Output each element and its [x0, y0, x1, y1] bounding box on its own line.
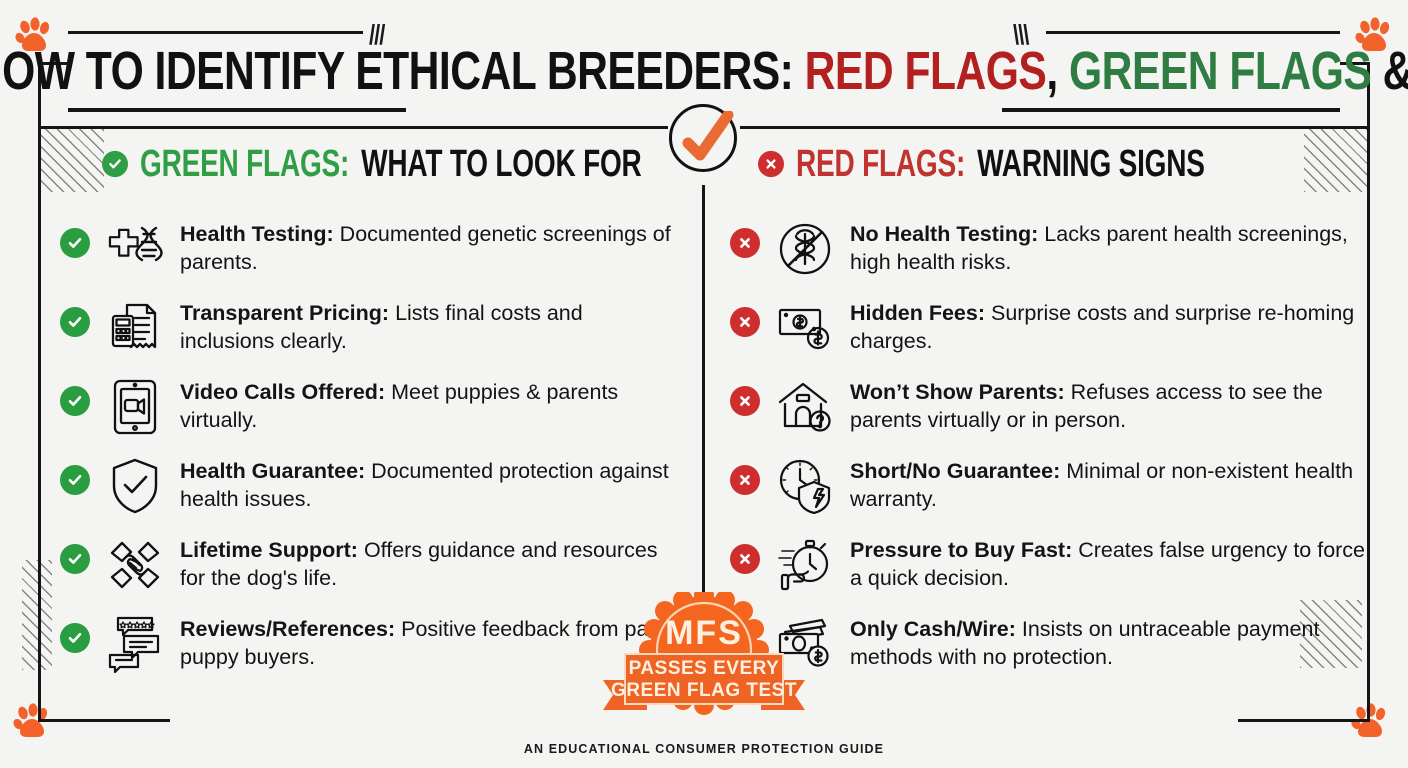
list-item-title: No Health Testing:	[850, 222, 1038, 246]
title-part-2: & QUESTIONS TO ASK	[1371, 40, 1408, 101]
helping-hands-icon	[104, 534, 166, 596]
list-item-title: Health Testing:	[180, 222, 334, 246]
seal-ribbon-line2: GREEN FLAG TEST	[611, 680, 797, 701]
list-item-text: Only Cash/Wire: Insists on untraceable p…	[850, 609, 1370, 671]
check-icon	[60, 307, 90, 337]
clock-broken-shield-icon	[774, 455, 836, 517]
title-comma: ,	[1046, 40, 1069, 101]
frame-border-left	[38, 62, 41, 722]
list-item-title: Hidden Fees:	[850, 301, 985, 325]
column-divider	[702, 185, 705, 617]
frame-border-bottom-right	[1238, 719, 1370, 722]
rule-below-title-right	[1002, 108, 1340, 112]
list-item: Health Guarantee: Documented protection …	[60, 451, 680, 517]
red-flags-heading-accent: RED FLAGS:	[796, 143, 965, 186]
x-icon	[730, 307, 760, 337]
house-question-icon	[774, 376, 836, 438]
list-item-text: Won’t Show Parents: Refuses access to se…	[850, 372, 1370, 434]
rule-below-title-left	[68, 108, 406, 112]
list-item: Hidden Fees: Surprise costs and surprise…	[730, 293, 1370, 359]
tablet-video-call-icon	[104, 376, 166, 438]
hidden-money-icon	[774, 297, 836, 359]
list-item-title: Video Calls Offered:	[180, 380, 385, 404]
green-flags-column: GREEN FLAGS: WHAT TO LOOK FOR	[60, 148, 680, 688]
x-icon	[730, 228, 760, 258]
green-flags-heading: GREEN FLAGS: WHAT TO LOOK FOR	[102, 143, 680, 186]
hatch-decoration-bottom-left	[22, 560, 52, 670]
check-icon	[60, 465, 90, 495]
green-flags-heading-accent: GREEN FLAGS:	[140, 143, 349, 186]
list-item-title: Pressure to Buy Fast:	[850, 538, 1072, 562]
list-item: Lifetime Support: Offers guidance and re…	[60, 530, 680, 596]
list-item-title: Won’t Show Parents:	[850, 380, 1065, 404]
list-item: Video Calls Offered: Meet puppies & pare…	[60, 372, 680, 438]
list-item: Won’t Show Parents: Refuses access to se…	[730, 372, 1370, 438]
list-item-text: Pressure to Buy Fast: Creates false urge…	[850, 530, 1370, 592]
list-item: Reviews/References: Positive feedback fr…	[60, 609, 680, 675]
red-flags-heading: RED FLAGS: WARNING SIGNS	[758, 143, 1370, 186]
check-icon	[60, 228, 90, 258]
list-item-text: Health Guarantee: Documented protection …	[180, 451, 680, 513]
mfs-seal-badge: MFS PASSES EVERY GREEN FLAG TEST	[601, 592, 807, 724]
title-part-1: HOW TO IDENTIFY ETHICAL BREEDERS:	[0, 40, 805, 101]
list-item-text: No Health Testing: Lacks parent health s…	[850, 214, 1370, 276]
header-divider-right	[740, 126, 1370, 129]
stopwatch-hand-icon	[774, 534, 836, 596]
title-red-flags: RED FLAGS	[805, 40, 1047, 101]
paw-print-icon	[10, 700, 54, 744]
calculator-receipt-icon	[104, 297, 166, 359]
check-icon	[60, 544, 90, 574]
list-item-title: Transparent Pricing:	[180, 301, 389, 325]
seal-brand: MFS	[665, 614, 743, 652]
list-item-title: Health Guarantee:	[180, 459, 365, 483]
header-divider-left	[38, 126, 668, 129]
seal-ribbon-line1: PASSES EVERY	[629, 658, 780, 679]
page-title: HOW TO IDENTIFY ETHICAL BREEDERS: RED FL…	[0, 44, 1408, 98]
paw-print-icon	[1348, 700, 1392, 744]
check-icon	[60, 623, 90, 653]
health-cross-dna-icon	[104, 218, 166, 280]
list-item: Only Cash/Wire: Insists on untraceable p…	[730, 609, 1370, 675]
list-item-title: Lifetime Support:	[180, 538, 358, 562]
list-item: Short/No Guarantee: Minimal or non-exist…	[730, 451, 1370, 517]
check-icon	[60, 386, 90, 416]
no-caduceus-icon	[774, 218, 836, 280]
x-circle-icon	[758, 151, 784, 177]
review-stars-chat-icon	[104, 613, 166, 675]
check-circle-icon	[669, 104, 737, 172]
list-item-text: Transparent Pricing: Lists final costs a…	[180, 293, 680, 355]
red-flags-heading-rest: WARNING SIGNS	[977, 143, 1205, 186]
green-flags-list: Health Testing: Documented genetic scree…	[60, 214, 680, 675]
title-green-flags: GREEN FLAGS	[1069, 40, 1371, 101]
rule-above-title-left	[68, 31, 363, 34]
list-item: Pressure to Buy Fast: Creates false urge…	[730, 530, 1370, 596]
footer-caption: AN EDUCATIONAL CONSUMER PROTECTION GUIDE	[0, 742, 1408, 756]
list-item: Health Testing: Documented genetic scree…	[60, 214, 680, 280]
red-flags-list: No Health Testing: Lacks parent health s…	[730, 214, 1370, 675]
infographic-canvas: /// \\\ HOW TO IDENTIFY ETHICAL BREEDERS…	[0, 0, 1408, 768]
x-icon	[730, 544, 760, 574]
frame-border-bottom-left	[38, 719, 170, 722]
list-item: Transparent Pricing: Lists final costs a…	[60, 293, 680, 359]
x-icon	[730, 386, 760, 416]
green-flags-heading-rest: WHAT TO LOOK FOR	[361, 143, 641, 186]
red-flags-column: RED FLAGS: WARNING SIGNS	[730, 148, 1370, 688]
list-item-text: Video Calls Offered: Meet puppies & pare…	[180, 372, 680, 434]
list-item-text: Hidden Fees: Surprise costs and surprise…	[850, 293, 1370, 355]
check-circle-icon	[102, 151, 128, 177]
list-item-title: Reviews/References:	[180, 617, 395, 641]
rule-above-title-right	[1046, 31, 1340, 34]
list-item-text: Health Testing: Documented genetic scree…	[180, 214, 680, 276]
list-item-text: Short/No Guarantee: Minimal or non-exist…	[850, 451, 1370, 513]
list-item: No Health Testing: Lacks parent health s…	[730, 214, 1370, 280]
list-item-title: Only Cash/Wire:	[850, 617, 1016, 641]
list-item-text: Lifetime Support: Offers guidance and re…	[180, 530, 680, 592]
shield-check-icon	[104, 455, 166, 517]
x-icon	[730, 465, 760, 495]
list-item-title: Short/No Guarantee:	[850, 459, 1060, 483]
